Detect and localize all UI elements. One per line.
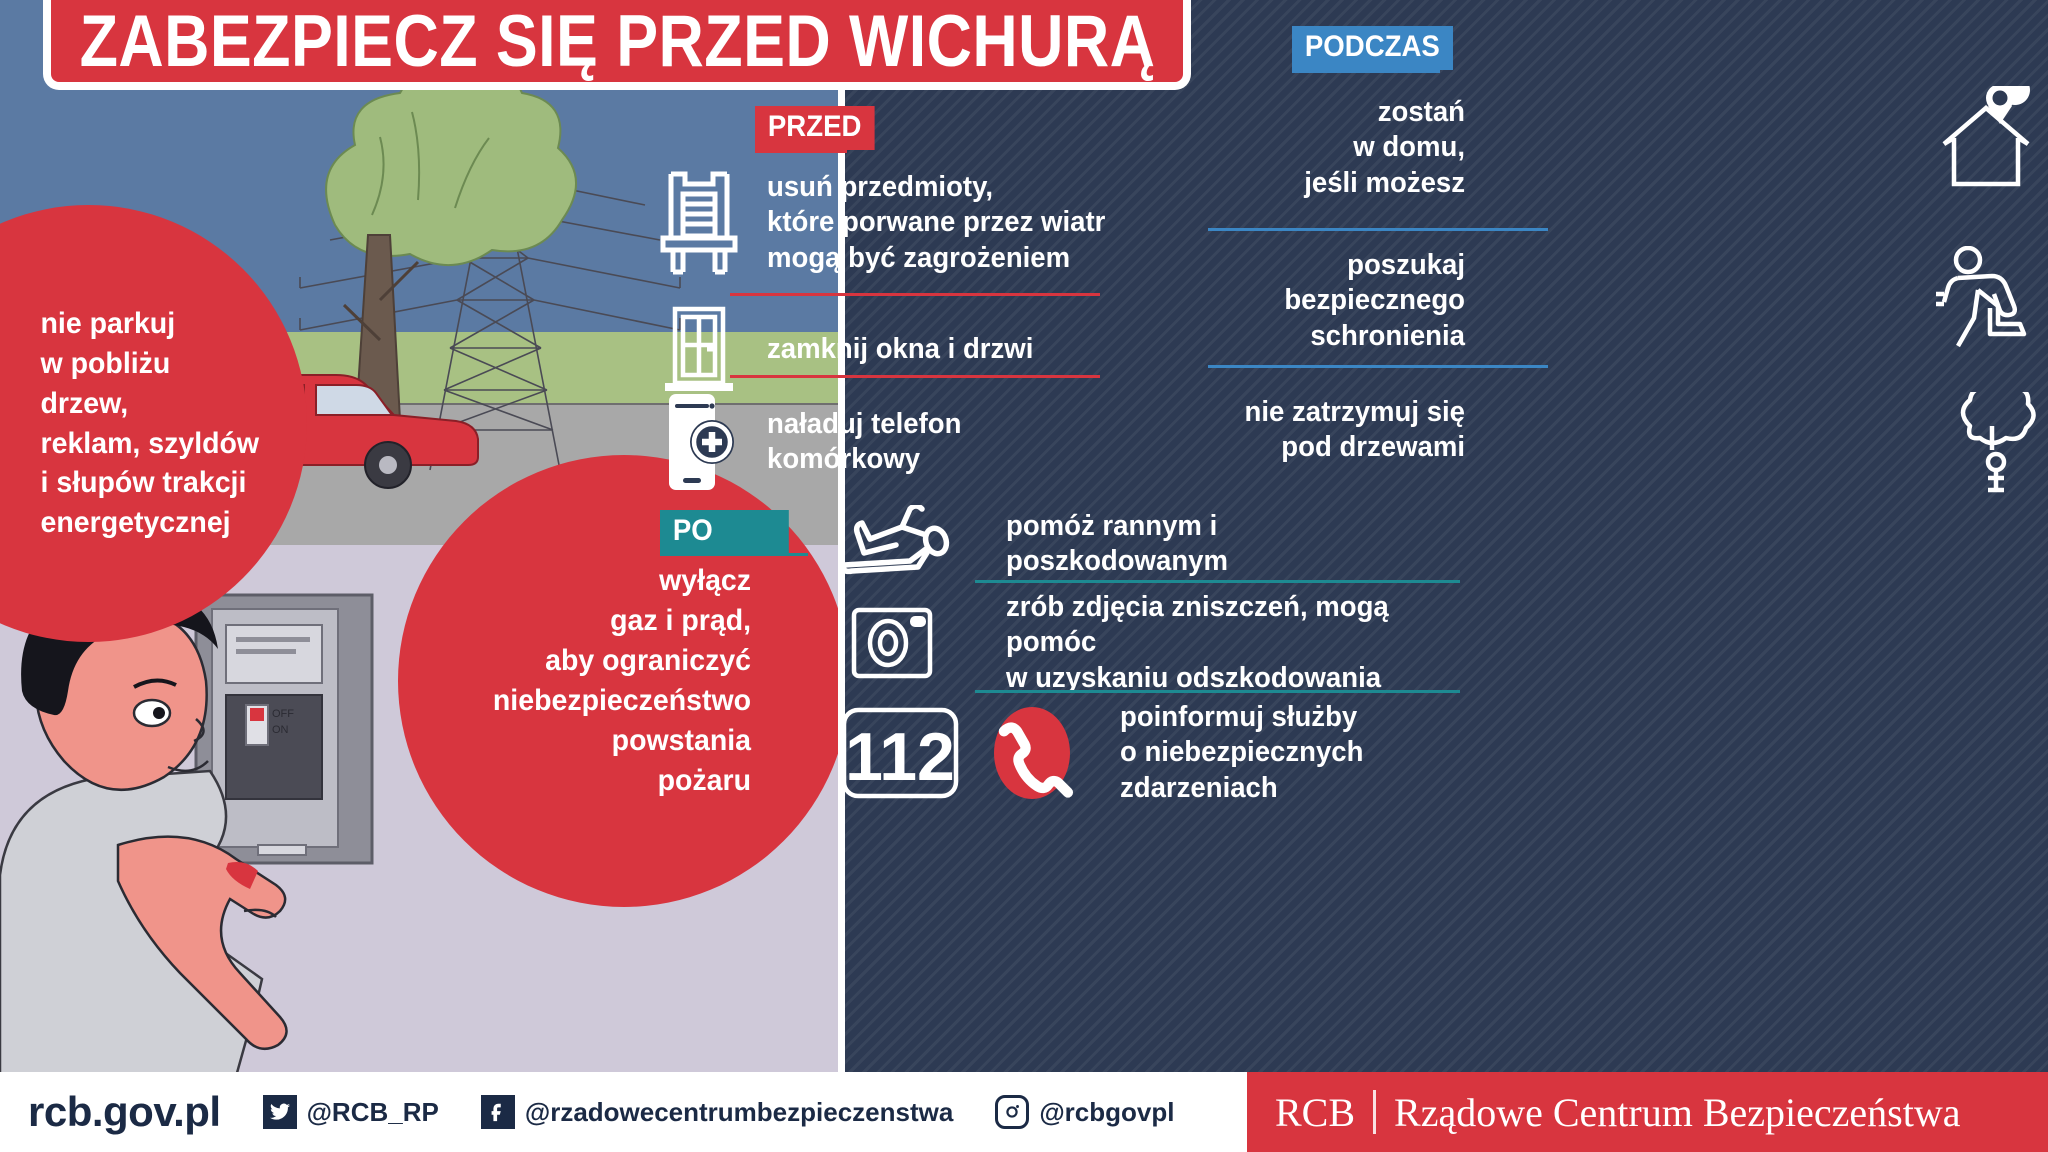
emergency-number-text: 112: [845, 719, 955, 795]
house-pin-icon: [1938, 86, 2034, 199]
chair-icon: [655, 168, 743, 278]
rcb-brand-name: Rządowe Centrum Bezpieczeństwa: [1394, 1089, 1960, 1136]
person-under-tree-icon: [1940, 392, 2038, 501]
podczas-item-1-text: zostań w domu, jeśli możesz: [1223, 95, 1465, 201]
infographic-root: OFF ON nie parkuj w pobliżu drzew, rekla…: [0, 0, 2048, 1152]
injured-person-icon: [840, 505, 960, 583]
rcb-logo-divider: [1373, 1090, 1376, 1134]
przed-item-1: usuń przedmioty, które porwane przez wia…: [655, 168, 1125, 278]
po-item-1: pomóż rannym i poszkodowanym: [840, 505, 1460, 583]
footer-brand: RCB Rządowe Centrum Bezpieczeństwa: [1247, 1072, 2048, 1152]
facebook-handle: @rzadowecentrumbezpieczenstwa: [525, 1097, 953, 1128]
running-person-icon: [1936, 246, 2036, 355]
podczas-item-2-text: poszukaj bezpiecznego schronienia: [1223, 248, 1465, 354]
po-divider-2: [975, 690, 1460, 693]
page-title-text: ZABEZPIECZ SIĘ PRZED WICHURĄ: [79, 5, 1155, 78]
camera-icon: [840, 602, 960, 684]
podczas-item-3-text: nie zatrzymuj się pod drzewami: [1223, 395, 1465, 466]
przed-item-1-text: usuń przedmioty, które porwane przez wia…: [767, 170, 1105, 276]
po-item-3-text: poinformuj służby o niebezpiecznych zdar…: [1120, 700, 1443, 806]
podczas-item-2: poszukaj bezpiecznego schronienia: [1210, 248, 1465, 354]
social-twitter[interactable]: @RCB_RP: [263, 1095, 439, 1129]
footer: rcb.gov.pl @RCB_RP @rzadowecentrumbezpie…: [0, 1072, 2048, 1152]
twitter-icon: [263, 1095, 297, 1129]
svg-text:OFF: OFF: [272, 708, 294, 720]
social-instagram[interactable]: @rcbgovpl: [995, 1095, 1174, 1129]
svg-text:ON: ON: [272, 724, 289, 736]
badge-po-underline: [660, 553, 808, 556]
emergency-call-icon: [980, 701, 1084, 805]
przed-item-2-text: zamknij okna i drzwi: [767, 332, 1033, 367]
badge-przed-underline: [755, 150, 847, 153]
instagram-icon: [995, 1095, 1029, 1129]
przed-item-3-text: naładuj telefon komórkowy: [767, 407, 961, 478]
po-item-3: 112 poinformuj służby o niebezpiecznych …: [840, 700, 1460, 806]
po-divider-1: [975, 580, 1460, 583]
rcb-logo-mark: RCB: [1275, 1089, 1373, 1136]
podczas-item-1: zostań w domu, jeśli możesz: [1210, 95, 1465, 201]
badge-po: PO: [660, 510, 789, 554]
shutoff-callout-text: wyłącz gaz i prąd, aby ograniczyć niebez…: [468, 561, 779, 800]
twitter-handle: @RCB_RP: [307, 1097, 439, 1128]
badge-podczas: PODCZAS: [1292, 26, 1453, 70]
instagram-handle: @rcbgovpl: [1039, 1097, 1174, 1128]
przed-divider-1: [730, 293, 1100, 296]
social-facebook[interactable]: @rzadowecentrumbezpieczenstwa: [481, 1095, 953, 1129]
podczas-item-3: nie zatrzymuj się pod drzewami: [1210, 395, 1465, 466]
mobile-phone-charge-icon: [655, 390, 743, 494]
przed-item-2: zamknij okna i drzwi: [655, 305, 1125, 395]
website-link[interactable]: rcb.gov.pl: [28, 1088, 221, 1136]
badge-podczas-underline: [1292, 70, 1440, 73]
emergency-number-plate: 112: [840, 704, 970, 802]
no-parking-callout-text: nie parkuj w pobliżu drzew, reklam, szyl…: [0, 304, 277, 543]
przed-divider-2: [730, 375, 1100, 378]
badge-przed: PRZED: [755, 106, 874, 150]
door-icon: [655, 305, 743, 395]
footer-left: rcb.gov.pl @RCB_RP @rzadowecentrumbezpie…: [0, 1072, 1247, 1152]
facebook-icon: [481, 1095, 515, 1129]
page-title: ZABEZPIECZ SIĘ PRZED WICHURĄ: [43, 0, 1191, 90]
przed-item-3: naładuj telefon komórkowy: [655, 390, 1125, 494]
po-item-2: zrób zdjęcia zniszczeń, mogą pomóc w uzy…: [840, 590, 1460, 696]
po-item-2-text: zrób zdjęcia zniszczeń, mogą pomóc w uzy…: [1006, 590, 1437, 696]
podczas-divider-1: [1208, 228, 1548, 231]
po-item-1-text: pomóż rannym i poszkodowanym: [1006, 509, 1437, 580]
podczas-divider-2: [1208, 365, 1548, 368]
